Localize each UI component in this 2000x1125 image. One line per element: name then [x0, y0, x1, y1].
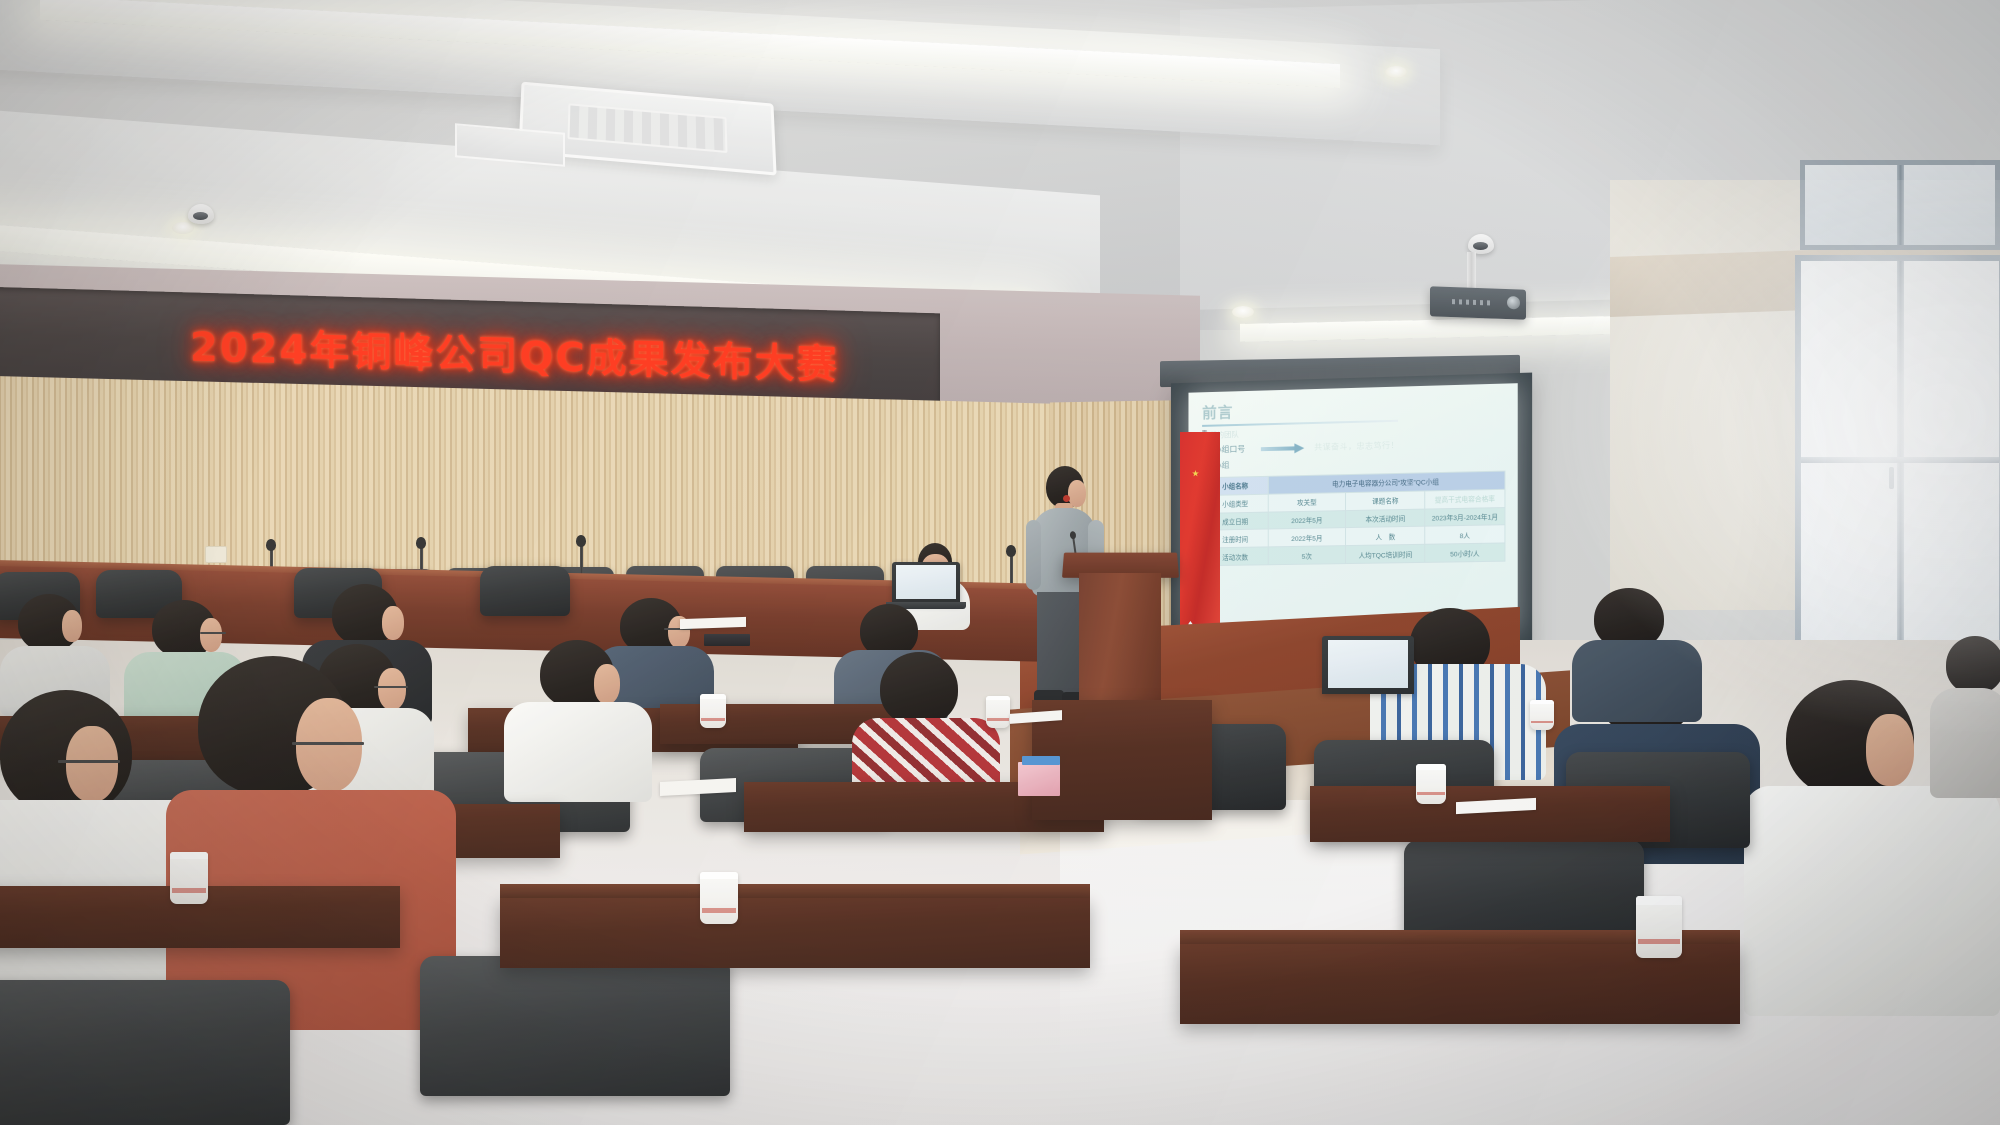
notebook-band: [1022, 756, 1060, 765]
window-mullion: [1897, 261, 1904, 669]
paper-cup[interactable]: [700, 872, 738, 924]
projector-indicator-lights: [1452, 299, 1492, 305]
dome-security-camera-icon: [1468, 234, 1494, 254]
table-cell: 人 数: [1346, 527, 1425, 546]
paper-cup[interactable]: [1530, 700, 1554, 730]
slide-slogan-row: QC小组口号 共谋奋斗，忠志笃行！: [1202, 437, 1505, 455]
table-cell: 课题名称: [1346, 491, 1425, 510]
presenter-lapel-pin: [1063, 495, 1070, 502]
presenter-left-arm: [1026, 520, 1041, 590]
paper-cup[interactable]: [1636, 896, 1682, 958]
led-banner-text: 2024年铜峰公司QC成果发布大赛: [190, 314, 839, 390]
laptop-icon[interactable]: [892, 562, 960, 604]
table-cell: 50小时/人: [1425, 543, 1505, 562]
laptop-display: [896, 565, 956, 599]
right-arrow-icon: [1261, 444, 1308, 453]
conference-room-photo: 2024年铜峰公司QC成果发布大赛 前言 我们的团队 QC小组口号 共谋奋斗，忠…: [0, 0, 2000, 1125]
table-row: 活动次数 5次 人均TQC培训时间 50小时/人: [1203, 543, 1505, 566]
table-cell: 5次: [1268, 546, 1346, 565]
notebook[interactable]: [704, 634, 750, 646]
paper-cup[interactable]: [170, 852, 208, 904]
table-cell: 提高干式电容合格率: [1425, 489, 1505, 509]
audience-desk: [1310, 786, 1670, 842]
audience-desk: [500, 898, 1090, 968]
slide-slogan-text: 共谋奋斗，忠志笃行！: [1314, 440, 1399, 453]
table-cell: 人均TQC培训时间: [1346, 544, 1425, 563]
slide-section-label: QC小组: [1202, 453, 1505, 471]
downlight-icon: [1232, 306, 1254, 318]
slide-title: 前言: [1202, 394, 1505, 423]
laptop-icon[interactable]: [1322, 636, 1414, 694]
window-handle[interactable]: [1889, 467, 1894, 489]
ac-grille: [567, 103, 727, 154]
audience-chair[interactable]: [480, 566, 570, 616]
window-transom: [1801, 457, 1999, 463]
table-cell: 2022年5月: [1268, 528, 1346, 547]
table-cell: 8人: [1425, 525, 1505, 544]
audience-chair[interactable]: [420, 956, 730, 1096]
notebook[interactable]: [1018, 762, 1060, 796]
window-wall: [1795, 255, 2000, 675]
slide-table: 小组名称 电力电子电容器分公司“攻坚”QC小组 小组类型 攻关型 课题名称 提高…: [1202, 471, 1505, 567]
audience-chair[interactable]: [0, 980, 290, 1125]
chinese-flag-icon: [1180, 432, 1220, 642]
projected-slide: 前言 我们的团队 QC小组口号 共谋奋斗，忠志笃行！ QC小组 小组名称 电力电…: [1188, 383, 1517, 637]
table-cell: 攻关型: [1268, 492, 1346, 511]
upper-window: [1800, 160, 2000, 250]
laptop-display: [1328, 640, 1409, 688]
downlight-icon: [1385, 66, 1407, 78]
table-cell: 2023年3月-2024年1月: [1425, 507, 1505, 526]
projector-lens: [1507, 296, 1520, 309]
table-cell: 2022年5月: [1268, 510, 1346, 529]
projector-icon: [1430, 286, 1526, 319]
paper-cup[interactable]: [700, 694, 726, 728]
table-cell: 本次活动时间: [1346, 509, 1425, 528]
paper-cup[interactable]: [1416, 764, 1446, 804]
paper-cup[interactable]: [986, 696, 1010, 728]
dome-security-camera-icon: [188, 204, 214, 224]
downlight-icon: [172, 222, 194, 234]
wall-socket: [205, 546, 227, 563]
